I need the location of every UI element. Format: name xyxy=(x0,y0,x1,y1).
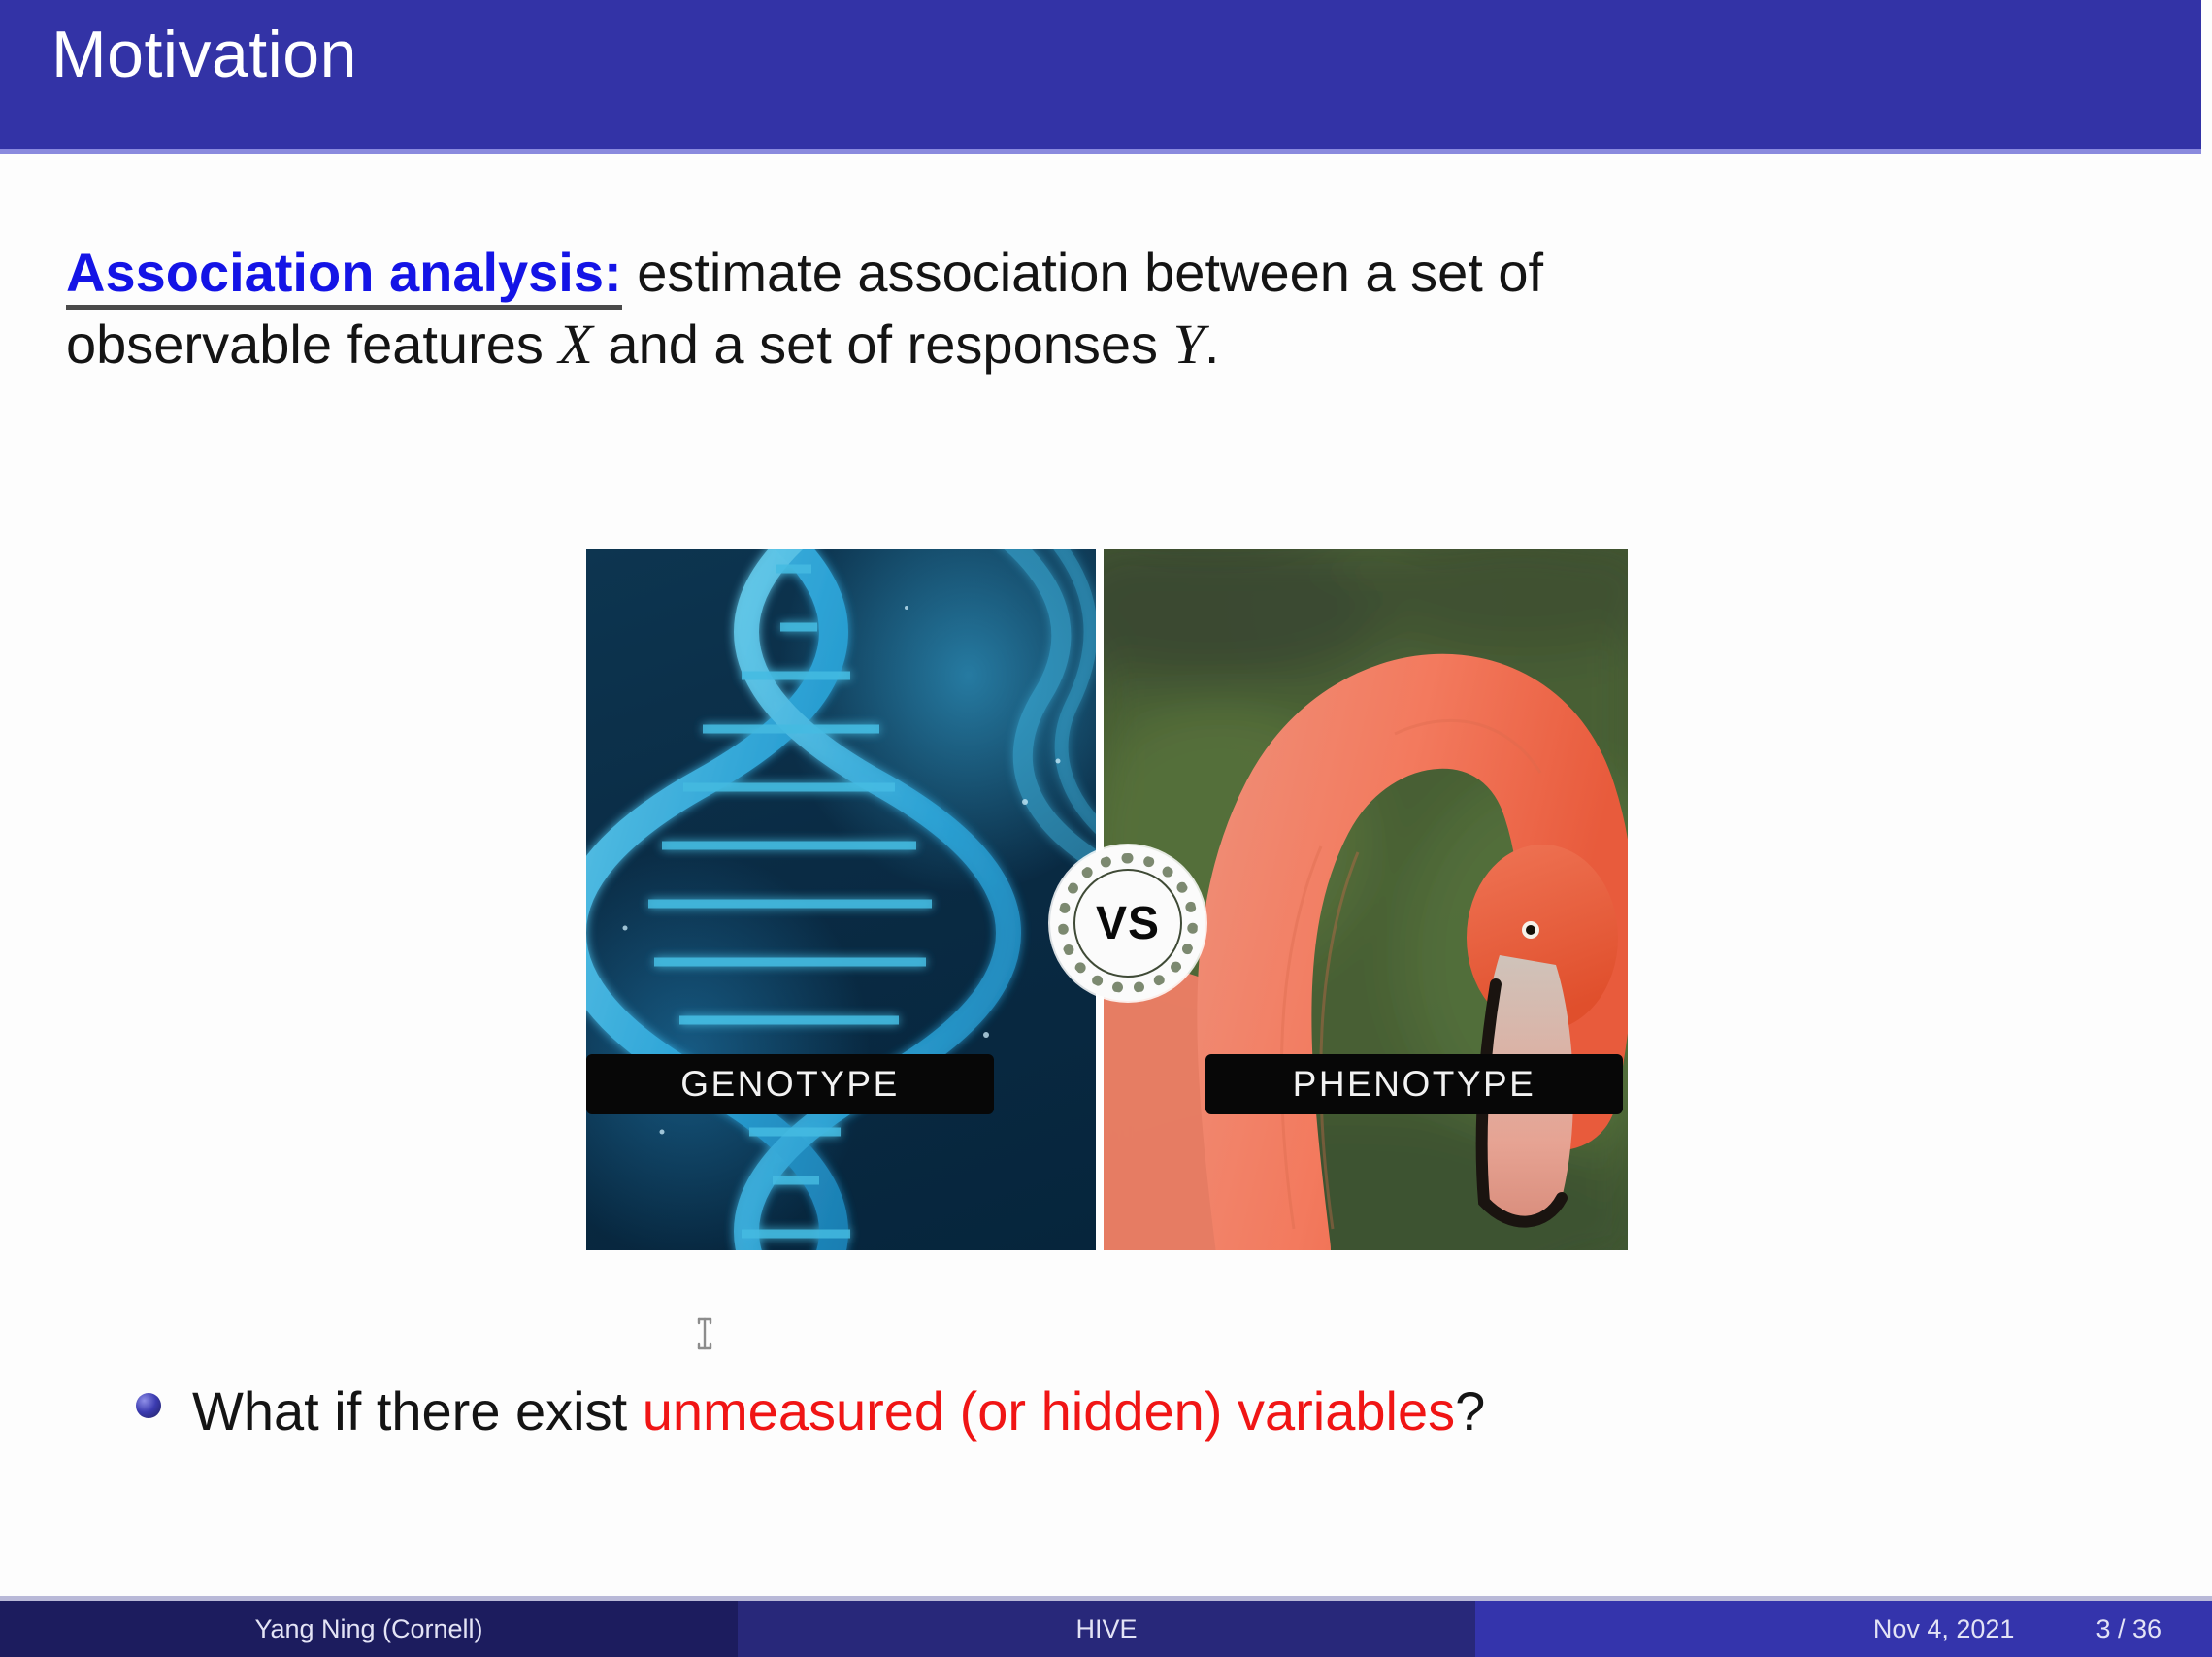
variable-x: X xyxy=(558,313,592,376)
definition-text-pre: observable features xyxy=(66,314,558,375)
genotype-vs-phenotype-figure: GENOTYPE xyxy=(586,549,1628,1250)
header-right-edge-sliver xyxy=(2201,0,2212,154)
genotype-image-panel: GENOTYPE xyxy=(586,549,1096,1250)
genotype-label: GENOTYPE xyxy=(586,1054,994,1114)
variable-y: Y xyxy=(1173,313,1205,376)
definition-text-line1: estimate association between a set of xyxy=(622,242,1543,303)
bullet-text: What if there exist unmeasured (or hidde… xyxy=(192,1383,1485,1441)
bullet-text-trailing: ? xyxy=(1455,1380,1485,1442)
i-beam-cursor-icon xyxy=(695,1315,714,1352)
footer-talk-title: HIVE xyxy=(738,1601,1475,1657)
phenotype-label: PHENOTYPE xyxy=(1205,1054,1623,1114)
page-title: Motivation xyxy=(51,21,357,87)
bullet-list-item: What if there exist unmeasured (or hidde… xyxy=(136,1383,1485,1441)
bullet-text-leading: What if there exist xyxy=(192,1380,643,1442)
footer-author: Yang Ning (Cornell) xyxy=(0,1601,738,1657)
footer-meta: Nov 4, 2021 3 / 36 xyxy=(1475,1601,2212,1657)
definition-text-post: . xyxy=(1205,314,1220,375)
vs-badge: VS xyxy=(1050,845,1205,1001)
definition-paragraph: Association analysis: estimate associati… xyxy=(66,245,2007,375)
definition-text-line2: observable features X and a set of respo… xyxy=(66,315,2007,375)
footer-bar: Yang Ning (Cornell) HIVE Nov 4, 2021 3 /… xyxy=(0,1601,2212,1657)
footer-date: Nov 4, 2021 xyxy=(1873,1614,2015,1644)
bullet-text-highlight: unmeasured (or hidden) variables xyxy=(643,1380,1455,1442)
footer-page-number: 3 / 36 xyxy=(2096,1614,2162,1644)
slide-header-rule xyxy=(0,149,2201,154)
definition-text-mid: and a set of responses xyxy=(593,314,1173,375)
vs-label: VS xyxy=(1096,897,1160,950)
dna-helix-icon xyxy=(586,549,1096,1250)
bullet-marker-icon xyxy=(136,1393,161,1418)
definition-term: Association analysis: xyxy=(66,242,622,310)
